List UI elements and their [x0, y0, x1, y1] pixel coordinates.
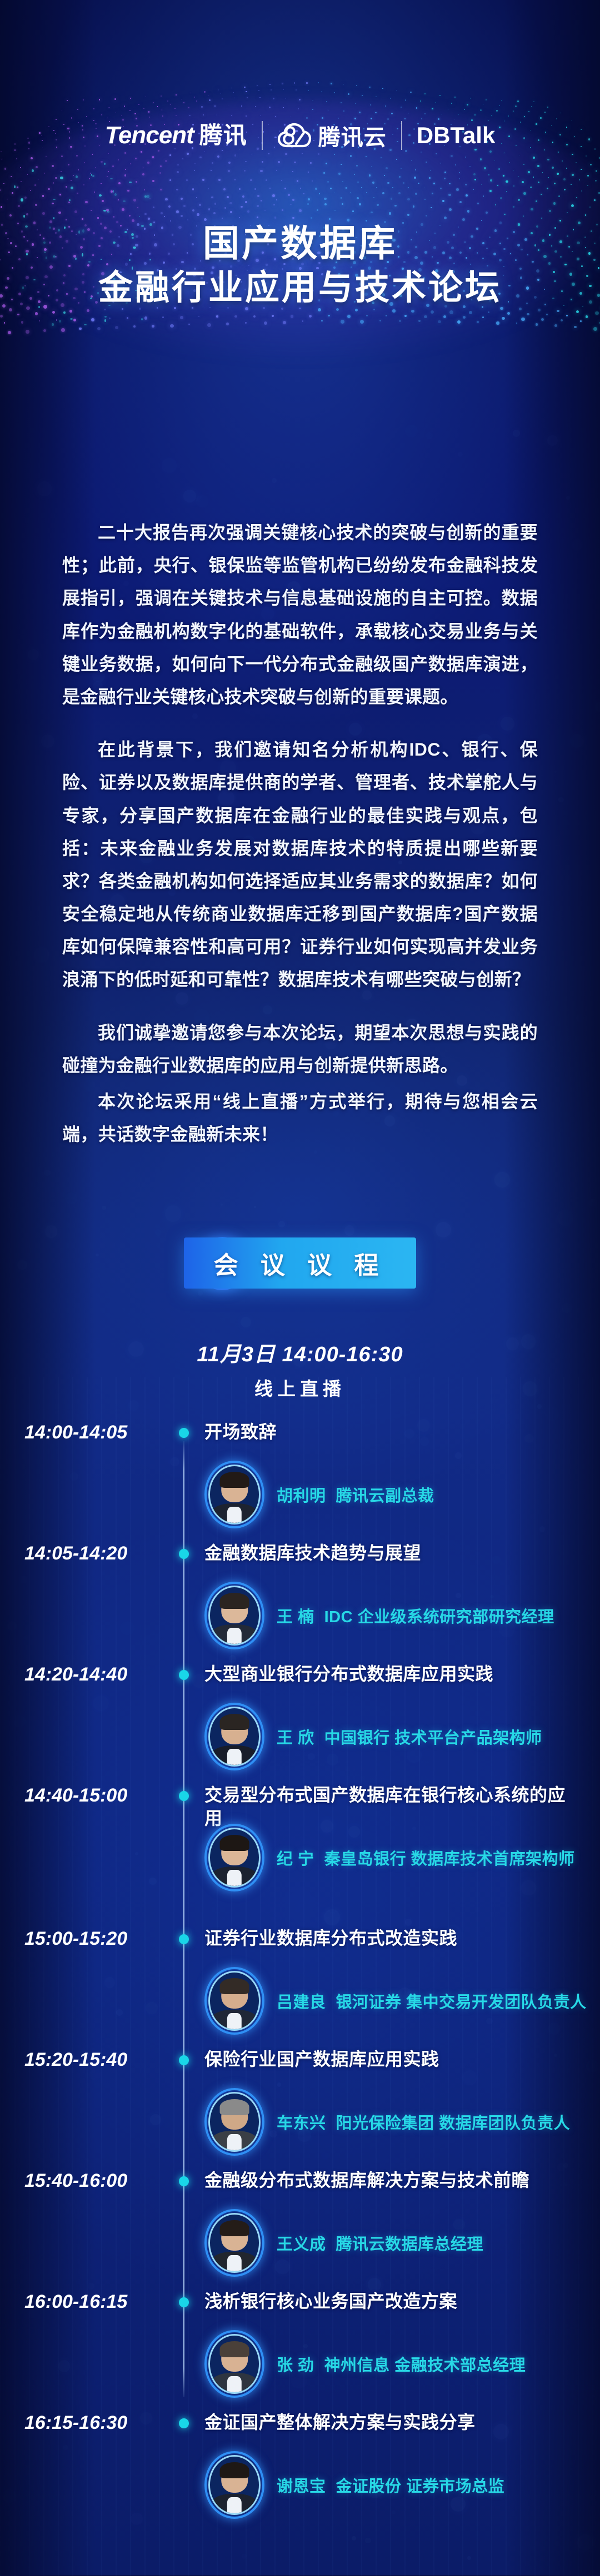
avatar [204, 1824, 264, 1891]
agenda-row: 14:40-15:00交易型分布式国产数据库在银行核心系统的应用纪 宁秦皇岛银行… [0, 1784, 600, 1928]
agenda-time: 15:00-15:20 [24, 1928, 170, 1950]
speaker-name: 车东兴 [277, 2115, 326, 2132]
logo-divider-1 [262, 121, 263, 150]
agenda-row: 14:05-14:20金融数据库技术趋势与展望王 楠IDC 企业级系统研究部研究… [0, 1542, 600, 1663]
agenda-speaker: 谢恩宝金证股份 证券市场总监 [204, 2452, 600, 2518]
tencent-cloud-logo: 腾讯云 [277, 119, 387, 152]
agenda-row: 15:00-15:20证券行业数据库分布式改造实践吕建良银河证券 集中交易开发团… [0, 1928, 600, 2049]
speaker-name: 王 欣 [277, 1729, 314, 1747]
avatar [204, 2209, 264, 2277]
avatar [204, 2330, 264, 2398]
timeline-dot-icon [179, 1549, 189, 1559]
agenda-topic: 交易型分布式国产数据库在银行核心系统的应用 [204, 1783, 571, 1830]
speaker-title: 腾讯云数据库总经理 [336, 2236, 484, 2253]
agenda-time: 16:15-16:30 [24, 2412, 170, 2434]
speaker-title: 神州信息 金融技术部总经理 [324, 2357, 526, 2374]
agenda-row: 16:00-16:15浅析银行核心业务国产改造方案张 劲神州信息 金融技术部总经… [0, 2291, 600, 2412]
agenda-row: 15:40-16:00金融级分布式数据库解决方案与技术前瞻王义成腾讯云数据库总经… [0, 2170, 600, 2291]
agenda-speaker: 胡利明腾讯云副总裁 [204, 1461, 600, 1528]
agenda-speaker: 车东兴阳光保险集团 数据库团队负责人 [204, 2089, 600, 2155]
speaker-title: 阳光保险集团 数据库团队负责人 [336, 2115, 571, 2132]
tencent-logo: Tencent腾讯 [105, 123, 247, 148]
agenda-speaker: 纪 宁秦皇岛银行 数据库技术首席架构师 [204, 1824, 600, 1891]
agenda-section-header: 会 议 议 程 [0, 1216, 600, 1310]
timeline-dot-icon [179, 2176, 189, 2186]
agenda-time: 14:05-14:20 [24, 1542, 170, 1565]
timeline-dot-icon [179, 2297, 189, 2307]
meeting-date: 11月3日 14:00-16:30 [0, 1337, 600, 1367]
agenda-topic: 金融数据库技术趋势与展望 [204, 1541, 571, 1565]
avatar [204, 1461, 264, 1528]
tencent-logo-cn: 腾讯 [199, 122, 247, 148]
avatar [204, 1582, 264, 1649]
speaker-title: IDC 企业级系统研究部研究经理 [324, 1608, 554, 1626]
tencent-cloud-icon [277, 120, 312, 151]
dbtalk-logo: DBTalk [417, 122, 496, 149]
meeting-when: 11月3日 14:00-16:30 线上直播 [0, 1337, 600, 1401]
agenda-timeline: 14:00-14:05开场致辞胡利明腾讯云副总裁14:05-14:20金融数据库… [0, 1421, 600, 2533]
agenda-time: 14:00-14:05 [24, 1421, 170, 1444]
agenda-speaker: 张 劲神州信息 金融技术部总经理 [204, 2331, 600, 2397]
speaker-name: 纪 宁 [277, 1850, 314, 1868]
agenda-time: 15:40-16:00 [24, 2170, 170, 2192]
paragraph-3: 我们诚挚邀请您参与本次论坛，期望本次思想与实践的碰撞为金融行业数据库的应用与创新… [62, 1017, 538, 1082]
agenda-topic: 证券行业数据库分布式改造实践 [204, 1926, 571, 1950]
speaker-name: 王义成 [277, 2236, 326, 2253]
agenda-badge: 会 议 议 程 [184, 1237, 417, 1289]
agenda-topic: 保险行业国产数据库应用实践 [204, 2047, 571, 2071]
brand-logo-row: Tencent腾讯 腾讯云 DBTalk [0, 109, 600, 162]
agenda-speaker: 吕建良银河证券 集中交易开发团队负责人 [204, 1968, 600, 2034]
agenda-speaker: 王 欣中国银行 技术平台产品架构师 [204, 1703, 600, 1770]
agenda-time: 15:20-15:40 [24, 2049, 170, 2071]
agenda-topic: 开场致辞 [204, 1420, 571, 1444]
timeline-dot-icon [179, 1670, 189, 1680]
intro-copy: 二十大报告再次强调关键核心技术的突破与创新的重要性；此前，央行、银保监等监管机构… [62, 516, 538, 1151]
agenda-time: 14:20-14:40 [24, 1663, 170, 1686]
title-line-1: 国产数据库 [0, 223, 600, 264]
timeline-dot-icon [179, 2055, 189, 2065]
agenda-row: 15:20-15:40保险行业国产数据库应用实践车东兴阳光保险集团 数据库团队负… [0, 2049, 600, 2170]
agenda-time: 14:40-15:00 [24, 1784, 170, 1807]
avatar [204, 1967, 264, 2035]
agenda-row: 16:15-16:30金证国产整体解决方案与实践分享谢恩宝金证股份 证券市场总监 [0, 2412, 600, 2533]
timeline-dot-icon [179, 1428, 189, 1438]
timeline-dot-icon [179, 1934, 189, 1944]
agenda-row: 14:00-14:05开场致辞胡利明腾讯云副总裁 [0, 1421, 600, 1542]
speaker-title: 中国银行 技术平台产品架构师 [324, 1729, 542, 1747]
page-title: 国产数据库 金融行业应用与技术论坛 [0, 223, 600, 309]
paragraph-1: 二十大报告再次强调关键核心技术的突破与创新的重要性；此前，央行、银保监等监管机构… [62, 516, 538, 713]
agenda-topic: 浅析银行核心业务国产改造方案 [204, 2290, 571, 2313]
paragraph-2: 在此背景下，我们邀请知名分析机构IDC、银行、保险、证券以及数据库提供商的学者、… [62, 733, 538, 997]
agenda-topic: 大型商业银行分布式数据库应用实践 [204, 1662, 571, 1686]
tencent-cloud-label: 腾讯云 [318, 119, 387, 152]
logo-divider-2 [401, 121, 402, 150]
avatar [204, 1703, 264, 1770]
agenda-time: 16:00-16:15 [24, 2291, 170, 2313]
timeline-dot-icon [179, 1791, 189, 1801]
avatar [204, 2088, 264, 2156]
timeline-dot-icon [179, 2418, 189, 2428]
avatar [204, 2451, 264, 2519]
tencent-logo-en: Tencent [105, 122, 194, 149]
speaker-name: 王 楠 [277, 1608, 314, 1626]
speaker-title: 腾讯云副总裁 [336, 1487, 434, 1505]
speaker-title: 秦皇岛银行 数据库技术首席架构师 [324, 1850, 575, 1868]
meeting-mode: 线上直播 [0, 1374, 600, 1401]
agenda-badge-label: 会 议 议 程 [214, 1252, 387, 1279]
speaker-name: 张 劲 [277, 2357, 314, 2374]
speaker-name: 谢恩宝 [277, 2478, 326, 2495]
speaker-name: 胡利明 [277, 1487, 326, 1505]
agenda-speaker: 王 楠IDC 企业级系统研究部研究经理 [204, 1582, 600, 1649]
speaker-title: 银河证券 集中交易开发团队负责人 [336, 1994, 587, 2011]
speaker-title: 金证股份 证券市场总监 [336, 2478, 505, 2495]
agenda-speaker: 王义成腾讯云数据库总经理 [204, 2210, 600, 2276]
agenda-row: 14:20-14:40大型商业银行分布式数据库应用实践王 欣中国银行 技术平台产… [0, 1663, 600, 1784]
agenda-topic: 金融级分布式数据库解决方案与技术前瞻 [204, 2169, 571, 2192]
speaker-name: 吕建良 [277, 1994, 326, 2011]
paragraph-4: 本次论坛采用“线上直播”方式举行，期待与您相会云端，共话数字金融新未来！ [62, 1085, 538, 1151]
title-line-2: 金融行业应用与技术论坛 [0, 268, 600, 309]
agenda-topic: 金证国产整体解决方案与实践分享 [204, 2411, 571, 2434]
